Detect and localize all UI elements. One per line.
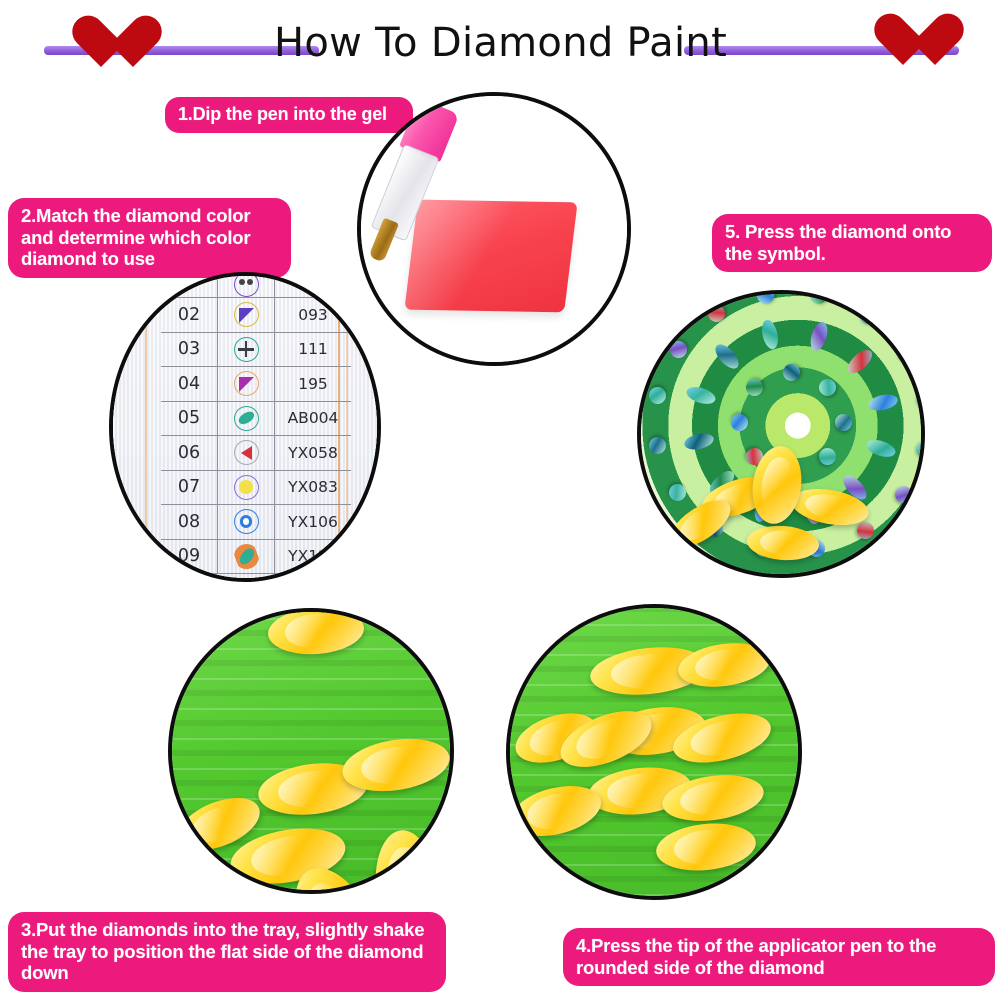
- photo-pen-dipping-gel: [357, 92, 631, 366]
- diamond: [676, 638, 773, 692]
- canvas-gem: [783, 364, 800, 381]
- photo-diamonds-in-tray: [168, 608, 454, 894]
- step-5-label: 5. Press the diamond onto the symbol.: [712, 214, 992, 272]
- chart-row: 02093: [161, 298, 351, 333]
- chart-cell-symbol: [218, 272, 275, 297]
- diamond: [746, 524, 820, 563]
- chart-cell-code: 093: [275, 298, 351, 332]
- chart-row: 07YX083: [161, 471, 351, 506]
- canvas-gem: [711, 340, 742, 372]
- chart-row: 028: [161, 272, 351, 298]
- chart-row: 04195: [161, 367, 351, 402]
- gel-pad: [404, 200, 577, 313]
- canvas-gem: [683, 431, 716, 452]
- canvas-gem: [705, 302, 729, 326]
- canvas-gem: [816, 375, 840, 399]
- canvas-gem: [731, 414, 748, 431]
- canvas-gem: [760, 319, 781, 352]
- canvas-gem: [816, 445, 840, 469]
- chart-cell-symbol: [218, 298, 275, 332]
- chart-cell-symbol: [218, 402, 275, 436]
- chart-cell-symbol: [218, 505, 275, 539]
- chart-cell-number: 07: [161, 471, 218, 505]
- tray-diamonds: [172, 612, 450, 890]
- chart-cell-symbol: [218, 540, 275, 574]
- chart-cell-number: 03: [161, 333, 218, 367]
- arrow-left-symbol: [234, 440, 259, 465]
- chart-cell-number: [161, 272, 218, 297]
- applicator-pen: [637, 290, 699, 436]
- chart-cell-number: 04: [161, 367, 218, 401]
- page-header: How To Diamond Paint: [0, 0, 1001, 80]
- canvas-gem: [915, 388, 925, 408]
- step-4-label: 4.Press the tip of the applicator pen to…: [563, 928, 995, 986]
- chart-cell-code: YX058: [275, 436, 351, 470]
- chart-cell-number: 05: [161, 402, 218, 436]
- canvas-gem: [647, 436, 667, 456]
- diamond: [662, 491, 738, 557]
- diamond: [370, 827, 444, 894]
- chart-cell-number: 09: [161, 540, 218, 574]
- photo-color-chart: 02802093031110419505AB00406YX05807YX0830…: [109, 272, 381, 582]
- canvas-gem: [891, 483, 915, 507]
- canvas-gem: [807, 320, 830, 353]
- slanted-oval-symbol: [234, 406, 259, 431]
- tray-diamonds: [510, 608, 798, 896]
- filled-circle-symbol: [234, 475, 259, 500]
- pen-barrel: [637, 290, 699, 397]
- chart-row: 03111: [161, 333, 351, 368]
- canvas-gem: [648, 385, 668, 405]
- canvas-gem: [844, 346, 876, 377]
- canvas-gem: [809, 290, 829, 306]
- chart-row: 08YX106: [161, 505, 351, 540]
- step-3-label: 3.Put the diamonds into the tray, slight…: [8, 912, 446, 992]
- chart-cell-code: AB004: [275, 402, 351, 436]
- chart-cell-symbol: [218, 436, 275, 470]
- chart-cell-symbol: [218, 333, 275, 367]
- canvas-gem: [866, 392, 899, 413]
- chart-cell-code: 195: [275, 367, 351, 401]
- chart-cell-code: YX083: [275, 471, 351, 505]
- canvas-gem: [667, 337, 691, 361]
- leaf-lens-symbol: [230, 540, 262, 572]
- chart-row: 06YX058: [161, 436, 351, 471]
- chart-cell-symbol: [218, 471, 275, 505]
- chart-cell-number: 08: [161, 505, 218, 539]
- page-title: How To Diamond Paint: [0, 20, 1001, 66]
- chart-cell-code: 111: [275, 333, 351, 367]
- filled-triangle-symbol: [234, 302, 259, 327]
- step-2-label: 2.Match the diamond color and determine …: [8, 198, 291, 278]
- ring-symbol: [234, 509, 259, 534]
- diamond: [654, 819, 758, 875]
- canvas-gem: [742, 375, 766, 399]
- canvas-gem: [864, 437, 897, 460]
- plus-cross-symbol: [234, 337, 259, 362]
- filled-triangle-symbol: [234, 371, 259, 396]
- chart-cell-number: 02: [161, 298, 218, 332]
- canvas-gem: [665, 481, 689, 505]
- chart-row: 09YX125: [161, 540, 351, 575]
- canvas-gem: [685, 384, 718, 407]
- canvas-gem: [856, 304, 880, 328]
- chart-cell-code: YX106: [275, 505, 351, 539]
- photo-placing-diamond: [637, 290, 925, 578]
- canvas-gem: [914, 439, 925, 459]
- chart-cell-symbol: [218, 367, 275, 401]
- canvas-gem: [756, 290, 776, 305]
- chart-cell-number: 06: [161, 436, 218, 470]
- chart-row: 05AB004: [161, 402, 351, 437]
- color-chart-table: 02802093031110419505AB00406YX05807YX0830…: [161, 272, 351, 574]
- chart-cell-code: YX125: [275, 540, 351, 574]
- canvas-gem: [893, 340, 917, 364]
- guide-line: [145, 276, 147, 578]
- chart-cell-code: 028: [275, 272, 351, 297]
- photo-pen-picking-diamond: [506, 604, 802, 900]
- double-dot-symbol: [234, 272, 259, 297]
- canvas-gem: [835, 414, 852, 431]
- diamond: [267, 608, 366, 657]
